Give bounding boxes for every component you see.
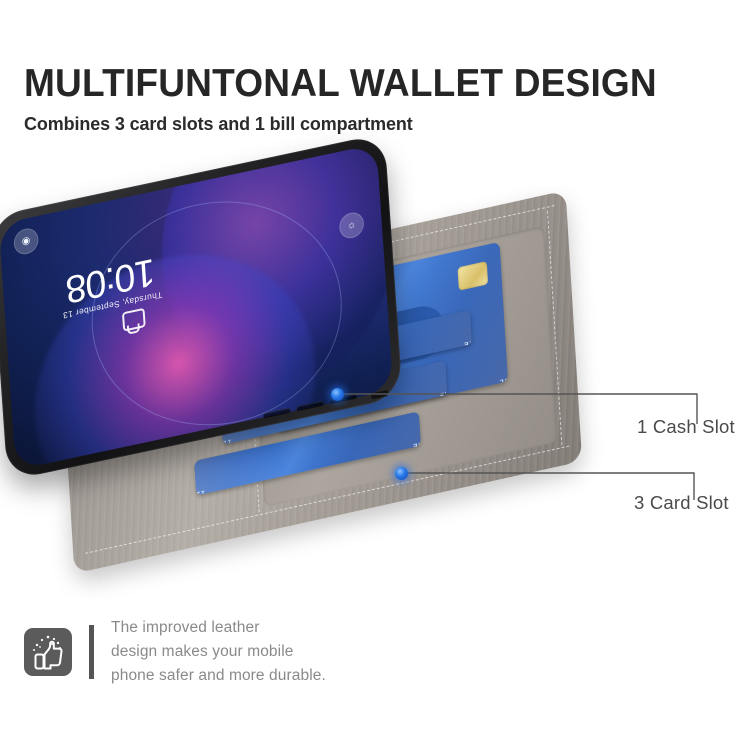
product-photo: bill-compartment 1234 5678 9012 CL 1234 … (0, 170, 640, 570)
feature-text-line: phone safer and more durable. (111, 664, 326, 688)
thumbs-up-icon (24, 628, 72, 676)
callout-label-card-slot: 3 Card Slot (634, 492, 729, 514)
feature-text-line: The improved leather (111, 616, 326, 640)
callout-dot-cash-slot (331, 388, 344, 401)
callout-label-cash-slot: 1 Cash Slot (637, 416, 735, 438)
thumbs-up-glyph (31, 634, 65, 670)
callout-dot-card-slot (395, 467, 408, 480)
feature-text: The improved leather design makes your m… (111, 616, 326, 688)
camera-icon[interactable]: ◉ (13, 226, 39, 256)
page-subtitle: Combines 3 card slots and 1 bill compart… (24, 113, 703, 135)
page-title: MULTIFUNTONAL WALLET DESIGN (24, 64, 689, 104)
product-infographic: MULTIFUNTONAL WALLET DESIGN Combines 3 c… (0, 0, 750, 750)
header: MULTIFUNTONAL WALLET DESIGN Combines 3 c… (24, 64, 724, 135)
feature-divider (89, 625, 94, 679)
feature-callout: The improved leather design makes your m… (24, 616, 326, 688)
feature-text-line: design makes your mobile (111, 640, 326, 664)
